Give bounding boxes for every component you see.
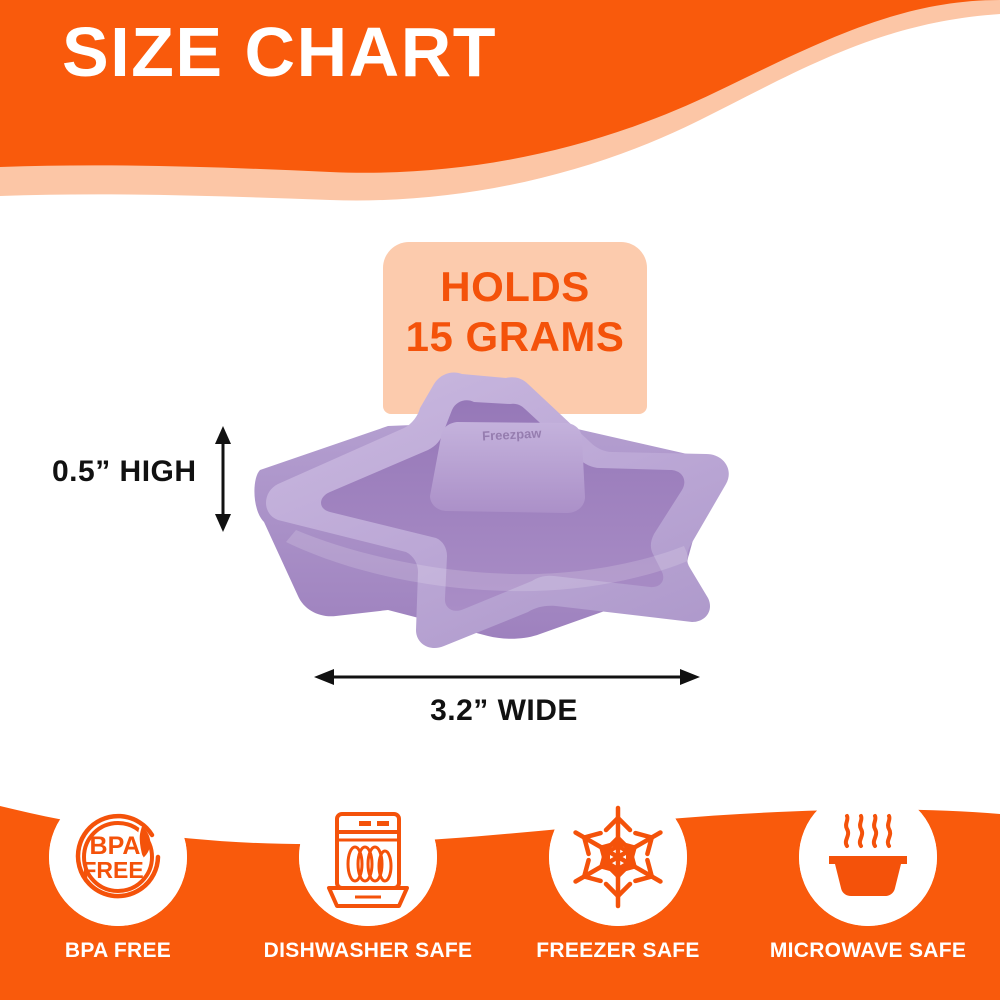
width-dimension-label: 3.2” WIDE [0,694,1000,728]
badge-freezer-safe: FREEZER SAFE [493,788,743,963]
page-title: SIZE CHART [62,17,497,87]
badge-bpa-free: BPA FREE BPA FREE [0,788,243,963]
star-tray-graphic: Freezpaw [238,360,778,670]
badge-microwave-safe: MICROWAVE SAFE [743,788,993,963]
badge-label-microwave-safe: MICROWAVE SAFE [743,939,993,963]
badge-label-dishwasher-safe: DISHWASHER SAFE [243,939,493,963]
snowflake-icon [549,788,687,926]
height-dimension-arrow [203,424,243,534]
width-dimension-text: 3.2” WIDE [430,694,578,727]
bpa-free-icon: BPA FREE [49,788,187,926]
badge-circle-microwave [799,788,937,926]
feature-badges-band: BPA FREE BPA FREE [0,770,1000,1000]
badge-label-freezer-safe: FREEZER SAFE [493,939,743,963]
brand-emboss-text: Freezpaw [482,425,543,443]
badge-circle-freezer [549,788,687,926]
badge-dishwasher-safe: DISHWASHER SAFE [243,788,493,963]
dishwasher-icon [299,788,437,926]
badge-circle-bpa: BPA FREE [49,788,187,926]
callout-line-holds: HOLDS [383,262,647,312]
svg-text:BPA: BPA [90,832,141,860]
badge-row: BPA FREE BPA FREE [0,770,1000,1000]
badge-label-bpa-free: BPA FREE [0,939,243,963]
callout-line-grams: 15 GRAMS [383,312,647,362]
svg-text:FREE: FREE [82,857,143,883]
badge-circle-dishwasher [299,788,437,926]
width-dimension-arrow [312,662,702,692]
size-chart-infographic: SIZE CHART HOLDS 15 GRAMS [0,0,1000,1000]
steaming-dish-icon [799,788,937,926]
header-banner: SIZE CHART [0,0,1000,230]
height-dimension-label: 0.5” HIGH [52,455,197,489]
product-image: Freezpaw [238,360,778,670]
